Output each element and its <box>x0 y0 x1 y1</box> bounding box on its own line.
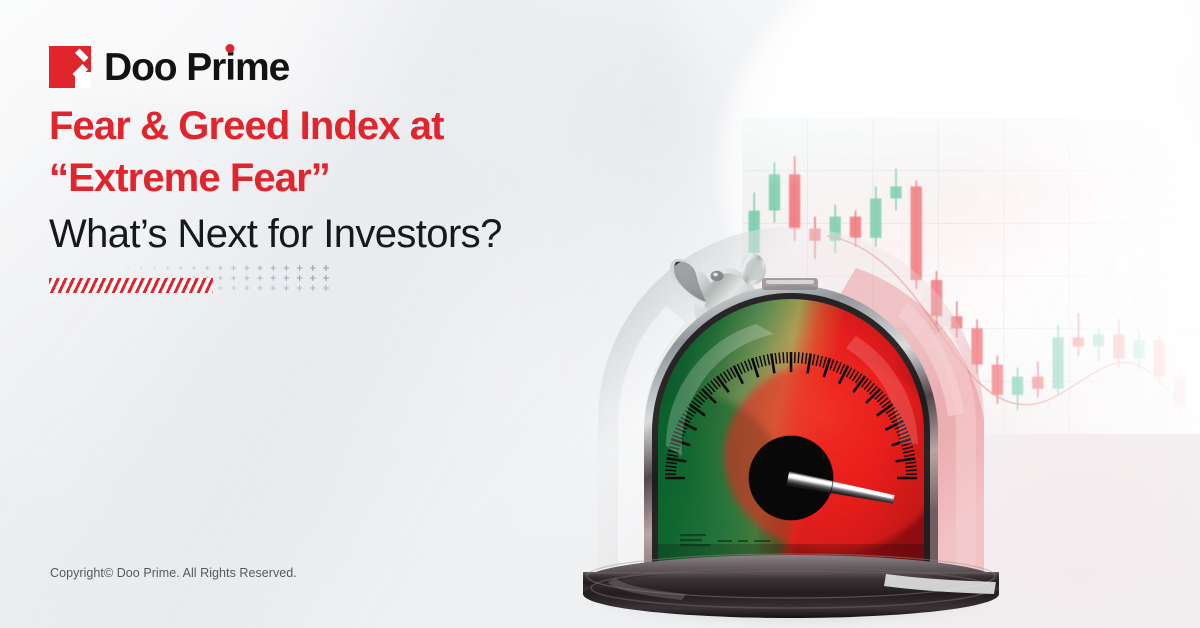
poster-canvas: Doo Prime Fear & Greed Index at “Extreme… <box>0 0 1200 628</box>
brand-name: Doo Prime <box>104 48 289 87</box>
diagonal-stripe-bar <box>49 278 213 293</box>
background-swirl-4 <box>21 0 640 628</box>
brand-red-dot-icon <box>226 44 235 53</box>
headline-line-3: What’s Next for Investors? <box>49 208 669 260</box>
headline-block: Fear & Greed Index at “Extreme Fear” Wha… <box>49 100 669 260</box>
doo-prime-logo-mark-icon <box>49 46 91 88</box>
copyright-text: Copyright© Doo Prime. All Rights Reserve… <box>50 566 297 580</box>
headline-line-1: Fear & Greed Index at <box>49 100 669 152</box>
gauge-base <box>583 554 999 618</box>
decorative-accents <box>49 262 339 300</box>
brand-i-letter: i <box>225 46 235 89</box>
headline-line-2: “Extreme Fear” <box>49 152 669 204</box>
brand-logo[interactable]: Doo Prime <box>49 46 289 88</box>
